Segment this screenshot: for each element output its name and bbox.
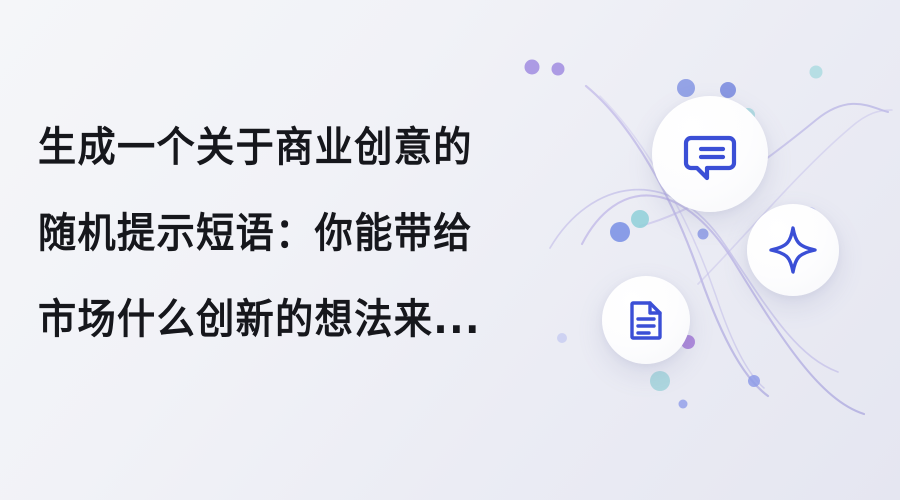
dot-purple-1	[525, 60, 540, 75]
dot-purple-3	[681, 335, 695, 349]
chat-bubble-icon	[681, 125, 739, 183]
dot-cyan-2	[810, 66, 823, 79]
sparkle-icon	[768, 225, 818, 275]
promo-banner: 生成一个关于商业创意的 随机提示短语：你能带给 市场什么创新的想法来...	[0, 0, 900, 500]
dot-group	[525, 60, 823, 409]
curve-1	[582, 195, 864, 414]
sparkle-badge	[747, 204, 839, 296]
headline-line-3: 市场什么创新的想法来...	[38, 276, 503, 362]
dot-blue-3	[610, 222, 630, 242]
curve-4	[600, 96, 764, 388]
dot-cyan-1	[741, 108, 755, 122]
dot-blue-5	[748, 375, 760, 387]
decorative-graphic	[520, 0, 900, 500]
dot-cyan-4	[650, 371, 670, 391]
dot-blue-7	[803, 207, 817, 221]
headline: 生成一个关于商业创意的 随机提示短语：你能带给 市场什么创新的想法来...	[38, 104, 538, 362]
curve-group	[550, 86, 892, 414]
curve-5	[640, 104, 888, 226]
curve-2	[550, 190, 838, 372]
curve-6	[698, 110, 892, 284]
chat-bubble-badge	[652, 96, 768, 212]
dot-blue-1	[677, 79, 695, 97]
document-icon	[623, 297, 669, 343]
dot-cyan-3	[631, 210, 649, 228]
headline-line-1: 生成一个关于商业创意的	[38, 104, 503, 190]
dot-purple-2	[552, 63, 565, 76]
dot-blue-4	[698, 229, 709, 240]
decor-svg	[520, 0, 900, 500]
curve-3	[586, 86, 768, 396]
dot-blue-2	[720, 82, 736, 98]
dot-blue-6	[679, 400, 688, 409]
dot-blue-8	[557, 333, 567, 343]
headline-line-2: 随机提示短语：你能带给	[38, 190, 503, 276]
document-badge	[602, 276, 690, 364]
